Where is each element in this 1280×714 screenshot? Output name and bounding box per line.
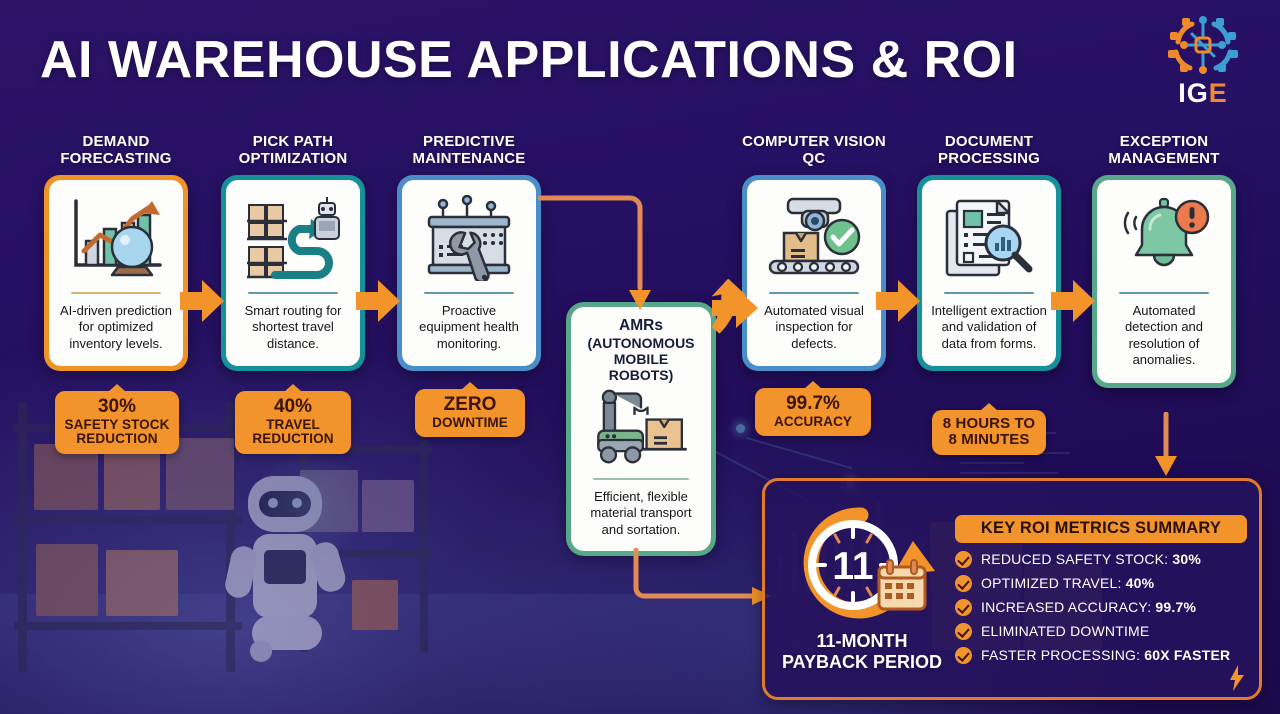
badge-label: 8 MINUTES [941, 432, 1037, 448]
badge-notch [284, 384, 302, 392]
hud-code-line [960, 462, 1024, 464]
arrow-amr-to-card4 [706, 278, 762, 334]
card-title-lead: AMRs [619, 317, 663, 334]
roi-metric-label: FASTER PROCESSING: [981, 647, 1140, 663]
badge-value: 30% [64, 397, 170, 418]
payback-label-line2: PAYBACK PERIOD [782, 652, 942, 672]
warehouse-box [36, 544, 98, 616]
roi-metric-label: REDUCED SAFETY STOCK: [981, 551, 1168, 567]
roi-summary-panel: 11 11-MONTH PAYBACK PERIOD [762, 478, 1262, 700]
badge-value: 8 HOURS TO [941, 416, 1037, 432]
connector-predictive-to-amr [538, 192, 666, 316]
roi-metrics-list: REDUCED SAFETY STOCK: 30% OPTIMIZED TRAV… [955, 551, 1247, 664]
badge-label: SAFETY STOCK REDUCTION [64, 418, 170, 447]
amr-robot-arm-pallet-icon [589, 384, 693, 470]
shelves-robot-route-icon [241, 192, 345, 284]
card-divider [424, 292, 514, 294]
rack-beam [14, 622, 242, 630]
card-title-sub: (AUTONOMOUS MOBILE ROBOTS) [587, 335, 694, 383]
roi-metric-label: INCREASED ACCURACY: [981, 599, 1151, 615]
badge-label: TRAVEL REDUCTION [244, 418, 342, 447]
check-circle-icon [955, 551, 972, 568]
card-frame: Intelligent extraction and validation of… [917, 175, 1061, 372]
infographic-root: AI WAREHOUSE APPLICATIONS & ROI [0, 0, 1280, 714]
logo-text-white: IG [1178, 78, 1209, 108]
roi-metric-value: 40% [1126, 575, 1155, 591]
connector-exception-to-roi-panel [1146, 412, 1186, 480]
machine-wrench-icon [417, 192, 521, 284]
badge-notch [980, 403, 998, 411]
badge-notch [108, 384, 126, 392]
badge-label: DOWNTIME [424, 416, 516, 431]
check-circle-icon [955, 623, 972, 640]
metric-badge-zero-downtime: ZERO DOWNTIME [415, 389, 525, 437]
roi-metric-text: REDUCED SAFETY STOCK: 30% [981, 551, 1201, 567]
card-body: AI-driven prediction for optimized inven… [49, 180, 183, 367]
check-circle-icon [955, 575, 972, 592]
payback-period-block: 11 11-MONTH PAYBACK PERIOD [765, 505, 951, 672]
metric-badge-processing-time: 8 HOURS TO 8 MINUTES [932, 410, 1046, 455]
card-title: PREDICTIVE MAINTENANCE [397, 134, 541, 168]
badge-notch [461, 382, 479, 390]
card-divider [593, 478, 688, 480]
card-frame: Proactive equipment health monitoring. [397, 175, 541, 372]
badge-value: 40% [244, 397, 342, 418]
card-body: Smart routing for shortest travel distan… [226, 180, 360, 367]
roi-metric-value: 60X FASTER [1144, 647, 1230, 663]
card-description: Proactive equipment health monitoring. [411, 303, 527, 353]
chart-crystal-ball-icon [64, 192, 168, 284]
logo: IGE [1148, 12, 1258, 117]
roi-metric-text: FASTER PROCESSING: 60X FASTER [981, 647, 1230, 663]
card-frame: Smart routing for shortest travel distan… [221, 175, 365, 372]
card-description: Smart routing for shortest travel distan… [235, 303, 351, 353]
card-divider [248, 292, 338, 294]
card-divider [769, 292, 859, 294]
gear-circuit-icon [1162, 12, 1244, 78]
rack-upright [18, 402, 27, 672]
pipeline-card-amrs[interactable]: AMRs (AUTONOMOUS MOBILE ROBOTS) [566, 302, 716, 556]
roi-metric-item: OPTIMIZED TRAVEL: 40% [955, 575, 1247, 592]
card-title: PICK PATH OPTIMIZATION [221, 134, 365, 168]
roi-metric-item: FASTER PROCESSING: 60X FASTER [955, 647, 1247, 664]
warehouse-box [352, 580, 398, 630]
card-description: Automated detection and resolution of an… [1106, 303, 1222, 369]
rack-upright [420, 422, 428, 652]
roi-metric-text: OPTIMIZED TRAVEL: 40% [981, 575, 1154, 591]
payback-label: 11-MONTH PAYBACK PERIOD [773, 631, 951, 672]
card-frame: AI-driven prediction for optimized inven… [44, 175, 188, 372]
card-divider [944, 292, 1034, 294]
roi-metric-text: INCREASED ACCURACY: 99.7% [981, 599, 1196, 615]
roi-metric-label: OPTIMIZED TRAVEL: [981, 575, 1122, 591]
metric-badge-accuracy: 99.7% ACCURACY [755, 388, 871, 436]
pipeline-card-pick-path-optimization[interactable]: PICK PATH OPTIMIZATION [221, 134, 365, 371]
roi-metric-value: 30% [1172, 551, 1201, 567]
card-body: Automated visual inspection for defects. [747, 180, 881, 367]
card-description: Automated visual inspection for defects. [756, 303, 872, 353]
warehouse-box [106, 550, 178, 616]
roi-metric-item: REDUCED SAFETY STOCK: 30% [955, 551, 1247, 568]
metric-badge-safety-stock: 30% SAFETY STOCK REDUCTION [55, 391, 179, 454]
documents-magnifier-icon [937, 192, 1041, 284]
card-title: AMRs (AUTONOMOUS MOBILE ROBOTS) [580, 317, 702, 384]
scene-glow [250, 444, 370, 564]
logo-text-orange: E [1209, 78, 1228, 108]
page-title: AI WAREHOUSE APPLICATIONS & ROI [40, 30, 1018, 90]
roi-metrics-block: KEY ROI METRICS SUMMARY REDUCED SAFETY S… [951, 515, 1259, 664]
card-body: Proactive equipment health monitoring. [402, 180, 536, 367]
hud-node [736, 424, 745, 433]
clock-calendar-arrow-icon: 11 [787, 505, 937, 627]
check-circle-icon [955, 647, 972, 664]
arrow-card4-to-card5 [872, 274, 926, 328]
alert-bell-icon [1112, 192, 1216, 284]
pipeline-card-computer-vision-qc[interactable]: COMPUTER VISION QC [742, 134, 886, 371]
roi-metric-text: ELIMINATED DOWNTIME [981, 623, 1149, 639]
hud-code-line [960, 472, 1058, 474]
card-divider [1119, 292, 1209, 294]
camera-conveyor-check-icon [762, 192, 866, 284]
arrow-card1-to-card2 [176, 274, 230, 328]
roi-metric-item: ELIMINATED DOWNTIME [955, 623, 1247, 640]
roi-metric-value: 99.7% [1155, 599, 1196, 615]
connector-amr-to-roi-panel [626, 548, 776, 616]
warehouse-box [34, 444, 98, 510]
card-body: AMRs (AUTONOMOUS MOBILE ROBOTS) [571, 307, 711, 551]
card-title: COMPUTER VISION QC [742, 134, 886, 168]
roi-metric-item: INCREASED ACCURACY: 99.7% [955, 599, 1247, 616]
card-body: Intelligent extraction and validation of… [922, 180, 1056, 367]
card-description: AI-driven prediction for optimized inven… [58, 303, 174, 353]
roi-metric-label: ELIMINATED DOWNTIME [981, 623, 1149, 639]
lightning-bolt-icon [1229, 665, 1245, 691]
card-body: Automated detection and resolution of an… [1097, 180, 1231, 383]
badge-value: ZERO [424, 395, 516, 416]
pipeline-card-predictive-maintenance[interactable]: PREDICTIVE MAINTENANCE [397, 134, 541, 371]
pipeline-card-demand-forecasting[interactable]: DEMAND FORECASTING [44, 134, 188, 371]
arrow-card2-to-card3 [352, 274, 406, 328]
card-title: DEMAND FORECASTING [44, 134, 188, 168]
badge-label: ACCURACY [764, 415, 862, 430]
hud-link [746, 437, 852, 469]
metric-badge-travel-reduction: 40% TRAVEL REDUCTION [235, 391, 351, 454]
card-frame: Automated visual inspection for defects. [742, 175, 886, 372]
payback-number: 11 [832, 545, 873, 588]
logo-text: IGE [1148, 80, 1258, 107]
check-circle-icon [955, 599, 972, 616]
badge-value: 99.7% [764, 394, 862, 415]
rack-beam [14, 516, 242, 524]
warehouse-box [104, 450, 160, 510]
payback-label-line1: 11-MONTH [816, 631, 907, 651]
card-divider [71, 292, 161, 294]
card-title: EXCEPTION MANAGEMENT [1092, 134, 1236, 168]
arrow-card5-to-card6 [1047, 274, 1101, 328]
pipeline-card-exception-management[interactable]: EXCEPTION MANAGEMENT [1092, 134, 1236, 388]
card-description: Efficient, flexible material transport a… [580, 489, 702, 539]
roi-metrics-heading: KEY ROI METRICS SUMMARY [955, 515, 1247, 543]
card-frame: Automated detection and resolution of an… [1092, 175, 1236, 388]
card-description: Intelligent extraction and validation of… [931, 303, 1047, 353]
badge-notch [804, 381, 822, 389]
card-title: DOCUMENT PROCESSING [917, 134, 1061, 168]
pipeline-card-document-processing[interactable]: DOCUMENT PROCESSING [917, 134, 1061, 371]
